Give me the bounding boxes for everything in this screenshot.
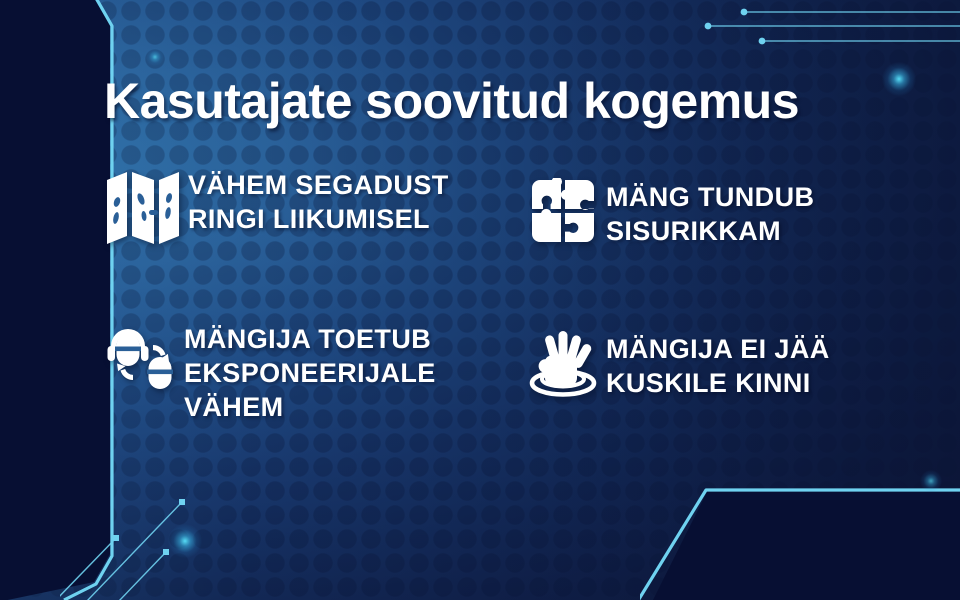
- feature-item-richer-content: Mäng tundub sisurikkam: [524, 160, 924, 248]
- support-exchange-icon: [104, 320, 182, 394]
- feature-grid: Vähem segadust ringi liikumisel: [104, 160, 924, 424]
- feature-label: Mängija toetub eksponeerijale vähem: [184, 320, 524, 424]
- feature-row-top: Vähem segadust ringi liikumisel: [104, 160, 924, 248]
- feature-row-bottom: Mängija toetub eksponeerijale vähem: [104, 304, 924, 424]
- puzzle-pieces-icon: [524, 178, 602, 244]
- feature-label: Mängija ei jää kuskile kinni: [606, 330, 924, 400]
- feature-label: Vähem segadust ringi liikumisel: [188, 166, 524, 236]
- feature-label: Mäng tundub sisurikkam: [606, 178, 924, 248]
- hand-in-hole-icon: [524, 330, 602, 398]
- slide-title: Kasutajate soovitud kogemus: [104, 72, 799, 130]
- feature-item-less-confusion: Vähem segadust ringi liikumisel: [104, 160, 524, 248]
- slide-content: Kasutajate soovitud kogemus: [0, 0, 960, 600]
- feature-item-no-stuck-points: Mängija ei jää kuskile kinni: [524, 304, 924, 424]
- feature-item-less-staff-reliance: Mängija toetub eksponeerijale vähem: [104, 304, 524, 424]
- slide-canvas: Kasutajate soovitud kogemus: [0, 0, 960, 600]
- folded-map-icon: [104, 166, 182, 246]
